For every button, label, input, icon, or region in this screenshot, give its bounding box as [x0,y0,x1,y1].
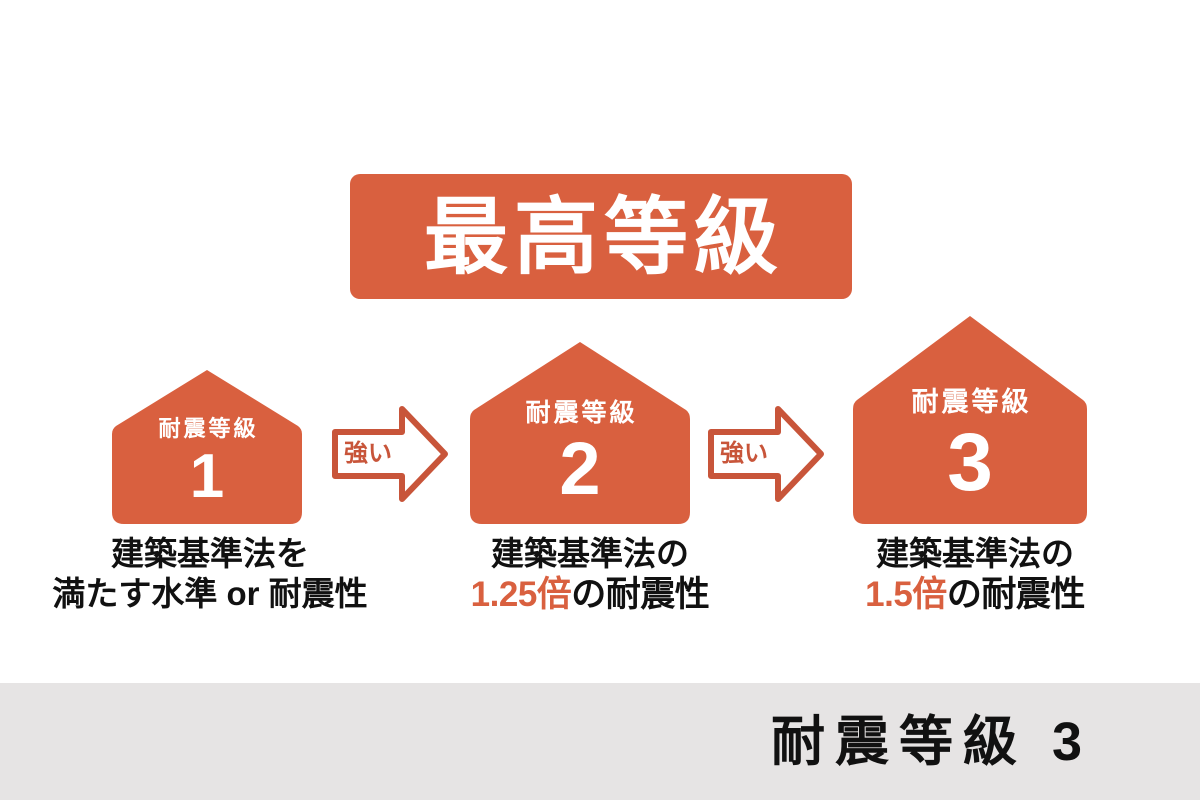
caption-3-line-1: 建築基準法の [820,534,1130,574]
infographic-canvas: 最高等級 耐震等級 1 強い 耐震等級 2 強い [0,0,1200,800]
caption-3-suffix: の耐震性 [947,575,1085,614]
highest-grade-banner-label: 最高等級 [418,195,784,279]
caption-2-suffix: の耐震性 [571,575,709,614]
bottom-bar-label: 耐震等級 3 [761,715,1200,769]
caption-3-line-2: 1.5倍の耐震性 [820,574,1130,617]
caption-grade-3: 建築基準法の 1.5倍の耐震性 [820,534,1130,617]
house-3-grade-label: 耐震等級 [909,389,1032,416]
caption-grade-1: 建築基準法を 満たす水準 or 耐震性 [20,534,400,615]
caption-grade-2: 建築基準法の 1.25倍の耐震性 [440,534,740,617]
house-2-grade-number: 2 [559,432,600,506]
house-1-labels: 耐震等級 1 [112,352,302,524]
house-1-grade-label: 耐震等級 [155,418,258,440]
caption-2-line-2: 1.25倍の耐震性 [440,574,740,617]
house-3-grade-number: 3 [947,422,993,504]
caption-3-multiplier: 1.5倍 [865,575,947,614]
house-grade-3: 耐震等級 3 [853,314,1087,524]
bottom-bar: 耐震等級 3 [0,683,1200,800]
house-grade-2: 耐震等級 2 [470,340,690,524]
caption-2-multiplier: 1.25倍 [471,575,572,614]
arrow-strong-1: 強い [330,404,450,504]
house-1-grade-number: 1 [190,446,224,508]
house-2-grade-label: 耐震等級 [522,401,637,426]
arrow-2-label: 強い [706,404,826,504]
arrow-1-label: 強い [330,404,450,504]
house-grade-1: 耐震等級 1 [112,368,302,524]
caption-2-line-1: 建築基準法の [440,534,740,574]
house-3-labels: 耐震等級 3 [853,294,1087,524]
caption-1-line-1: 建築基準法を [20,534,400,574]
highest-grade-banner: 最高等級 [350,174,852,299]
arrow-strong-2: 強い [706,404,826,504]
house-2-labels: 耐震等級 2 [470,322,690,524]
caption-1-line-2: 満たす水準 or 耐震性 [20,574,400,614]
